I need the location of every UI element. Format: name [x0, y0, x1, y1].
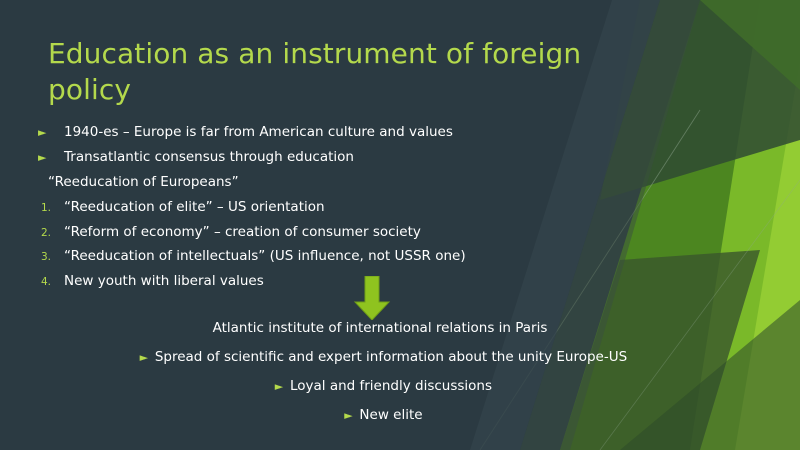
slide-content: Education as an instrument of foreign po… — [0, 0, 800, 450]
list-item-label: Transatlantic consensus through educatio… — [64, 149, 638, 166]
list-item: 4. New youth with liberal values — [38, 273, 638, 290]
list-item: 3. “Reeducation of intellectuals” (US in… — [38, 248, 638, 265]
conclusion-heading: Atlantic institute of international rela… — [0, 320, 760, 337]
list-item: ► Loyal and friendly discussions — [0, 378, 760, 395]
list-item: 1. “Reeducation of elite” – US orientati… — [38, 199, 638, 216]
list-item-label: Loyal and friendly discussions — [290, 378, 492, 395]
conclusion-block: Atlantic institute of international rela… — [0, 320, 760, 436]
arrow-bullet-icon: ► — [38, 151, 64, 165]
bullet-list: ► 1940-es – Europe is far from American … — [38, 124, 638, 298]
list-number: 4. — [38, 276, 64, 289]
list-item-label: “Reeducation of Europeans” — [48, 174, 638, 191]
down-arrow-icon — [352, 276, 392, 320]
list-item-label: 1940-es – Europe is far from American cu… — [64, 124, 638, 141]
arrow-bullet-icon: ► — [337, 409, 359, 423]
list-number: 2. — [38, 227, 64, 240]
arrow-bullet-icon: ► — [133, 351, 155, 365]
list-number: 3. — [38, 251, 64, 264]
arrow-bullet-icon: ► — [38, 126, 64, 140]
list-item: ► New elite — [0, 407, 760, 424]
list-item-label: New elite — [359, 407, 422, 424]
list-item-label: “Reeducation of elite” – US orientation — [64, 199, 638, 216]
arrow-bullet-icon: ► — [268, 380, 290, 394]
list-item: 2. “Reform of economy” – creation of con… — [38, 224, 638, 241]
list-item: ► Transatlantic consensus through educat… — [38, 149, 638, 166]
list-item: ► Spread of scientific and expert inform… — [0, 349, 760, 366]
slide: Education as an instrument of foreign po… — [0, 0, 800, 450]
list-item: ► 1940-es – Europe is far from American … — [38, 124, 638, 141]
page-title: Education as an instrument of foreign po… — [48, 36, 608, 108]
list-item-label: “Reform of economy” – creation of consum… — [64, 224, 638, 241]
list-item-label: Spread of scientific and expert informat… — [155, 349, 627, 366]
list-item-label: New youth with liberal values — [64, 273, 638, 290]
list-number: 1. — [38, 202, 64, 215]
list-item-label: “Reeducation of intellectuals” (US influ… — [64, 248, 638, 265]
